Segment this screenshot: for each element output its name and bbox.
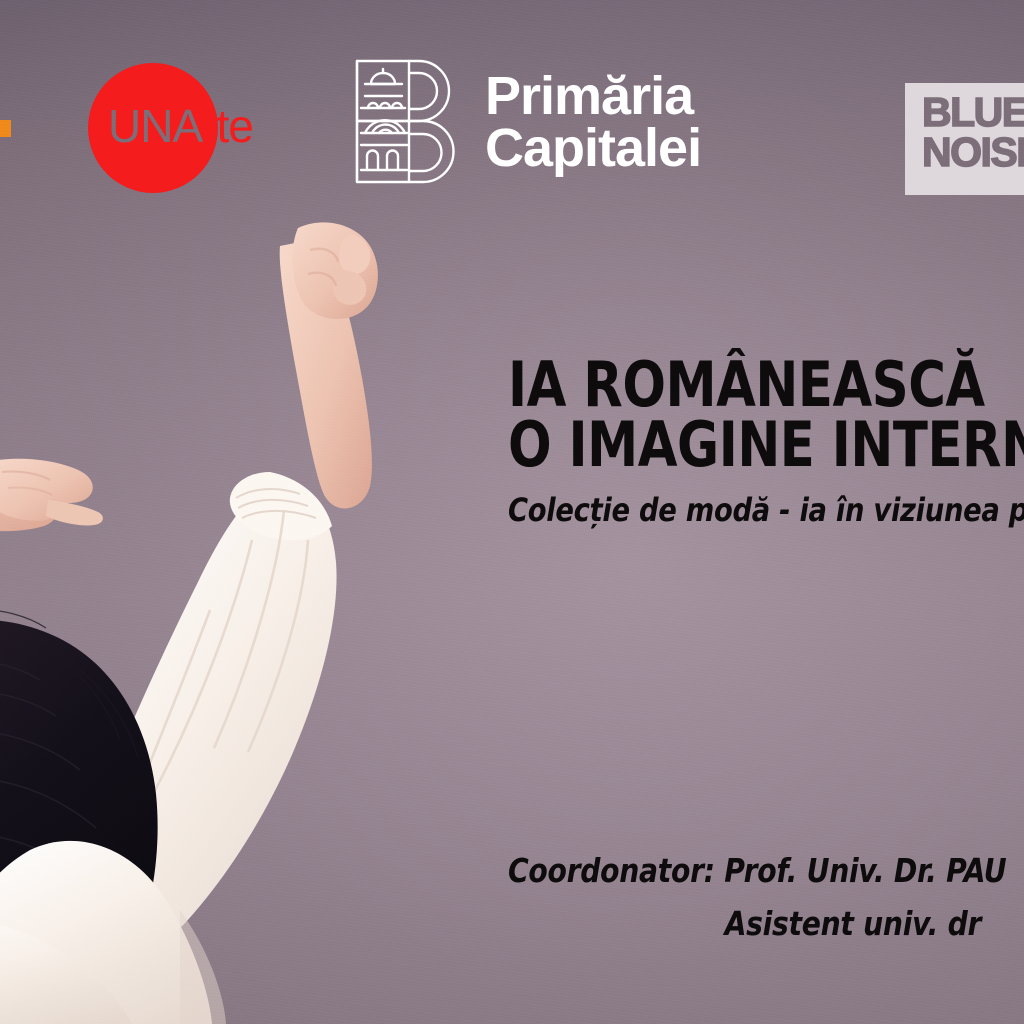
- partial-logo-left-edge: ria: [0, 84, 16, 174]
- headline-block: IA ROMÂNEASCĂ O IMAGINE INTERNA Colecție…: [508, 355, 1024, 529]
- unarte-logo[interactable]: UNArte: [88, 63, 268, 193]
- blue-noise-logo[interactable]: BLUE NOISE: [905, 83, 1024, 195]
- primaria-capitalei-logo[interactable]: Primăria Capitalei: [347, 55, 701, 190]
- credits-coordinator: Coordonator: Prof. Univ. Dr. PAU: [508, 845, 1024, 898]
- blue-noise-line-2: NOISE: [922, 132, 1024, 172]
- partial-logo-label: ria: [0, 150, 16, 160]
- blue-noise-wordmark: BLUE NOISE: [922, 92, 1024, 172]
- poster-canvas: ria UNArte: [0, 0, 1024, 1024]
- bucharest-b-monogram-icon: [347, 55, 463, 190]
- primaria-line-1: Primăria: [485, 71, 701, 123]
- primaria-line-2: Capitalei: [485, 123, 701, 175]
- blue-noise-line-1: BLUE: [922, 92, 1024, 132]
- subheadline: Colecție de modă - ia în viziunea p: [508, 491, 1024, 529]
- orange-square-icon: [0, 120, 11, 137]
- credits-block: Coordonator: Prof. Univ. Dr. PAU Asisten…: [508, 845, 1024, 951]
- sponsor-logo-bar: ria UNArte: [0, 0, 1024, 210]
- headline-line-1: IA ROMÂNEASCĂ: [508, 355, 1024, 415]
- unarte-wordmark-rte: rte: [202, 100, 253, 152]
- primaria-capitalei-wordmark: Primăria Capitalei: [485, 71, 701, 175]
- headline-line-2: O IMAGINE INTERNA: [508, 415, 1024, 475]
- unarte-wordmark: UNArte: [108, 103, 253, 149]
- credits-assistant: Asistent univ. dr: [508, 898, 1024, 951]
- model-photo: [0, 210, 400, 1024]
- unarte-wordmark-una: UNA: [108, 100, 202, 152]
